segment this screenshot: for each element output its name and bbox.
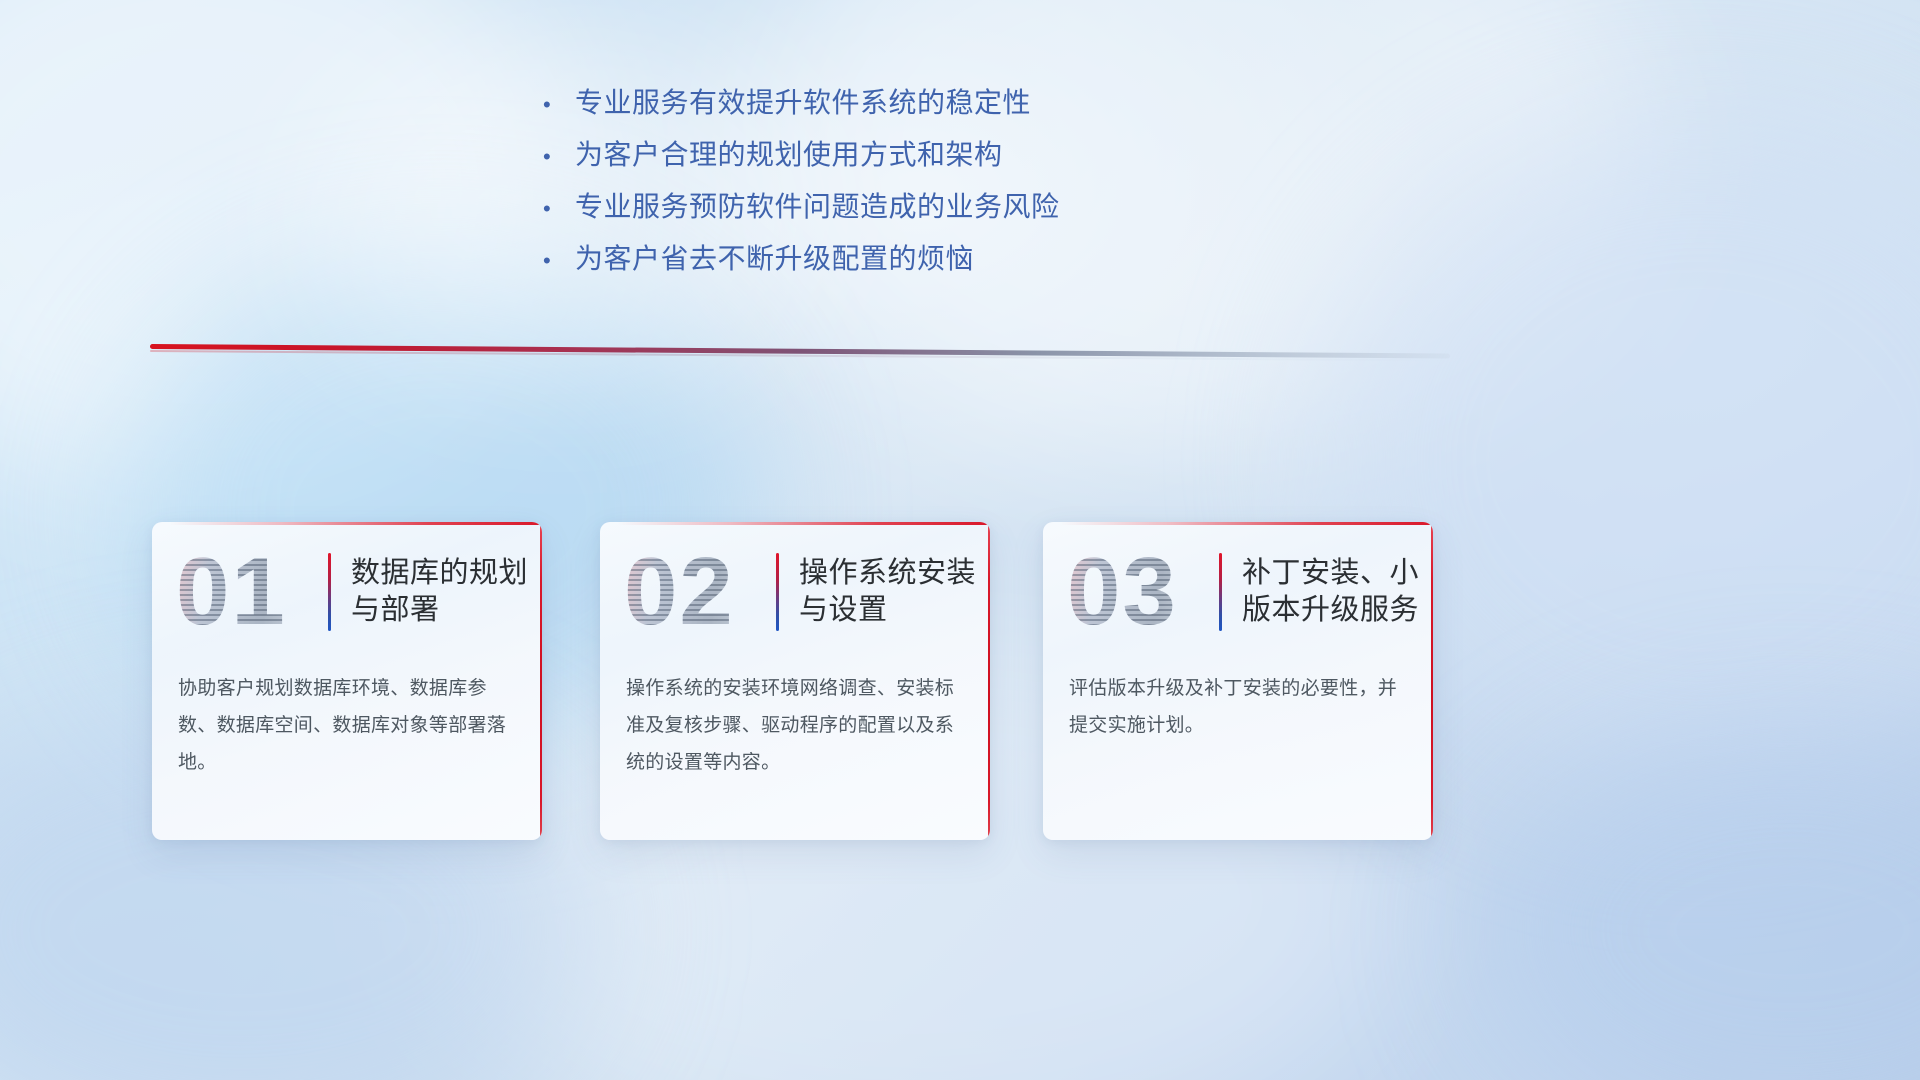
card-description: 操作系统的安装环境网络调查、安装标准及复核步骤、驱动程序的配置以及系统的设置等内… — [600, 662, 990, 781]
card-title: 补丁安装、小版本升级服务 — [1242, 555, 1422, 629]
bullet-text: 为客户省去不断升级配置的烦恼 — [575, 244, 974, 275]
card-number: 03 — [1067, 544, 1217, 640]
list-item: • 专业服务有效提升软件系统的稳定性 — [535, 88, 1435, 140]
card-title: 操作系统安装与设置 — [799, 555, 979, 629]
bullet-marker-icon: • — [535, 198, 575, 220]
slide-canvas: • 专业服务有效提升软件系统的稳定性 • 为客户合理的规划使用方式和架构 • 专… — [0, 0, 1920, 1080]
bullet-marker-icon: • — [535, 146, 575, 168]
section-divider — [150, 344, 1450, 366]
background-glow-top-left — [0, 0, 580, 500]
list-item: • 为客户合理的规划使用方式和架构 — [535, 140, 1435, 192]
bullet-text: 专业服务有效提升软件系统的稳定性 — [575, 88, 1031, 119]
service-card-03[interactable]: 03 补丁安装、小版本升级服务 评估版本升级及补丁安装的必要性，并提交实施计划。 — [1043, 522, 1433, 840]
list-item: • 专业服务预防软件问题造成的业务风险 — [535, 192, 1435, 244]
service-card-01[interactable]: 01 数据库的规划与部署 协助客户规划数据库环境、数据库参数、数据库空间、数据库… — [152, 522, 542, 840]
bullet-marker-icon: • — [535, 250, 575, 272]
card-accent-bar — [328, 553, 331, 631]
card-number: 01 — [176, 544, 326, 640]
bullet-text: 为客户合理的规划使用方式和架构 — [575, 140, 1003, 171]
bullet-text: 专业服务预防软件问题造成的业务风险 — [575, 192, 1060, 223]
bullet-list: • 专业服务有效提升软件系统的稳定性 • 为客户合理的规划使用方式和架构 • 专… — [535, 88, 1435, 296]
list-item: • 为客户省去不断升级配置的烦恼 — [535, 244, 1435, 296]
card-header: 02 操作系统安装与设置 — [600, 522, 990, 662]
card-description: 协助客户规划数据库环境、数据库参数、数据库空间、数据库对象等部署落地。 — [152, 662, 542, 781]
card-title: 数据库的规划与部署 — [351, 555, 531, 629]
card-accent-bar — [1219, 553, 1222, 631]
card-header: 01 数据库的规划与部署 — [152, 522, 542, 662]
card-accent-bar — [776, 553, 779, 631]
card-header: 03 补丁安装、小版本升级服务 — [1043, 522, 1433, 662]
card-number: 02 — [624, 544, 774, 640]
card-description: 评估版本升级及补丁安装的必要性，并提交实施计划。 — [1043, 662, 1433, 744]
service-card-02[interactable]: 02 操作系统安装与设置 操作系统的安装环境网络调查、安装标准及复核步骤、驱动程… — [600, 522, 990, 840]
background-glow-bottom-right — [1480, 720, 1920, 1080]
bullet-marker-icon: • — [535, 94, 575, 116]
